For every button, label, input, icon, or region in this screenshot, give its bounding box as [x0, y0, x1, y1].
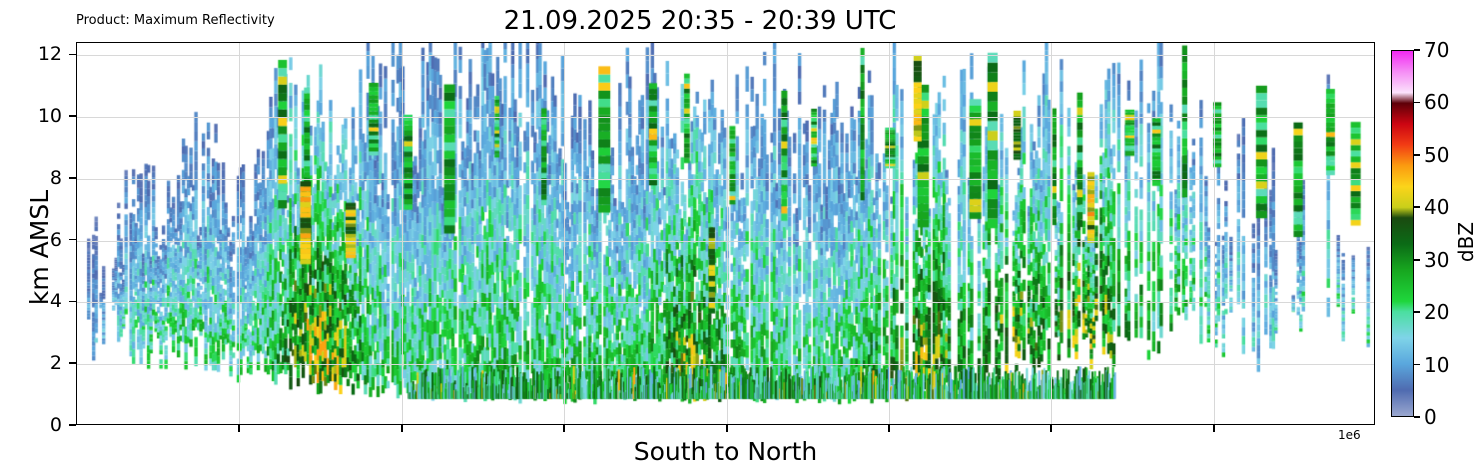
- y-tick-mark: [69, 301, 76, 303]
- colorbar-tick-label: 0: [1424, 405, 1437, 429]
- x-tick-mark: [888, 425, 890, 432]
- y-tick-label: 8: [0, 167, 62, 189]
- y-tick-label: 0: [0, 414, 62, 436]
- colorbar: [1391, 50, 1414, 417]
- colorbar-tick-mark: [1414, 364, 1420, 366]
- plot-area: [76, 42, 1375, 425]
- radar-cross-section-figure: Product: Maximum Reflectivity 21.09.2025…: [0, 0, 1482, 470]
- y-tick-mark: [69, 54, 76, 56]
- colorbar-tick-label: 70: [1424, 38, 1449, 62]
- colorbar-tick-mark: [1414, 206, 1420, 208]
- x-tick-mark: [1050, 425, 1052, 432]
- y-tick-mark: [69, 362, 76, 364]
- colorbar-tick-mark: [1414, 102, 1420, 104]
- colorbar-tick-label: 50: [1424, 143, 1449, 167]
- y-tick-mark: [69, 239, 76, 241]
- reflectivity-heatmap: [77, 43, 1374, 424]
- colorbar-tick-mark: [1414, 259, 1420, 261]
- colorbar-tick-label: 10: [1424, 353, 1449, 377]
- colorbar-tick-mark: [1414, 416, 1420, 418]
- colorbar-tick-label: 40: [1424, 195, 1449, 219]
- y-tick-mark: [69, 115, 76, 117]
- colorbar-tick-mark: [1414, 154, 1420, 156]
- colorbar-tick-label: 60: [1424, 90, 1449, 114]
- y-tick-label: 10: [0, 105, 62, 127]
- y-tick-label: 12: [0, 43, 62, 65]
- y-tick-mark: [69, 177, 76, 179]
- colorbar-title: dBZ: [1454, 222, 1478, 262]
- colorbar-tick-label: 20: [1424, 300, 1449, 324]
- colorbar-tick-label: 30: [1424, 248, 1449, 272]
- colorbar-gradient: [1392, 51, 1413, 416]
- x-tick-mark: [1213, 425, 1215, 432]
- chart-title: 21.09.2025 20:35 - 20:39 UTC: [0, 6, 1400, 36]
- y-tick-label: 2: [0, 352, 62, 374]
- x-axis-label: South to North: [76, 437, 1375, 466]
- x-tick-mark: [563, 425, 565, 432]
- x-axis-offset-text: 1e6: [1338, 428, 1361, 442]
- y-tick-mark: [69, 424, 76, 426]
- x-tick-mark: [238, 425, 240, 432]
- colorbar-tick-mark: [1414, 311, 1420, 313]
- x-tick-mark: [726, 425, 728, 432]
- colorbar-tick-mark: [1414, 49, 1420, 51]
- x-tick-mark: [401, 425, 403, 432]
- y-axis-label: km AMSL: [25, 190, 54, 305]
